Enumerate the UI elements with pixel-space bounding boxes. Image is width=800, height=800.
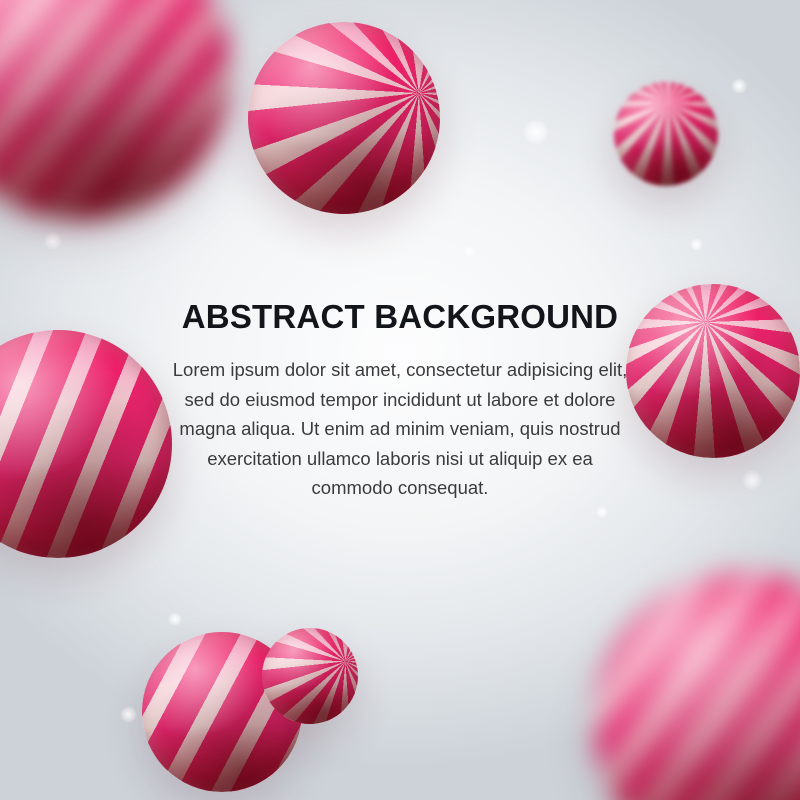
sphere-top-right-small: [614, 82, 718, 186]
sphere-rim-layer: [0, 0, 230, 220]
sphere-rim-layer: [626, 284, 800, 458]
sphere-bottom-left-small: [262, 628, 358, 724]
bokeh-dot: [120, 706, 137, 723]
sphere-left-edge: [0, 330, 172, 558]
bokeh-dot: [523, 119, 549, 145]
bokeh-dot: [464, 246, 475, 257]
page-title: ABSTRACT BACKGROUND: [170, 300, 630, 333]
bokeh-dot: [690, 238, 703, 251]
bokeh-dot: [44, 232, 62, 250]
bokeh-dot: [731, 78, 747, 94]
sphere-rim-layer: [248, 22, 440, 214]
sphere-bottom-right-blurred: [594, 572, 800, 800]
sphere-top-left-blurred: [0, 0, 230, 220]
bokeh-dot: [596, 506, 608, 518]
sphere-rim-layer: [614, 82, 718, 186]
sphere-top-center: [248, 22, 440, 214]
body-paragraph: Lorem ipsum dolor sit amet, consectetur …: [170, 355, 630, 503]
sphere-right-main: [626, 284, 800, 458]
text-content-block: ABSTRACT BACKGROUND Lorem ipsum dolor si…: [170, 300, 630, 503]
sphere-rim-layer: [594, 572, 800, 800]
bokeh-dot: [168, 612, 182, 626]
abstract-background-canvas: ABSTRACT BACKGROUND Lorem ipsum dolor si…: [0, 0, 800, 800]
bokeh-dot: [742, 470, 762, 490]
sphere-rim-layer: [262, 628, 358, 724]
